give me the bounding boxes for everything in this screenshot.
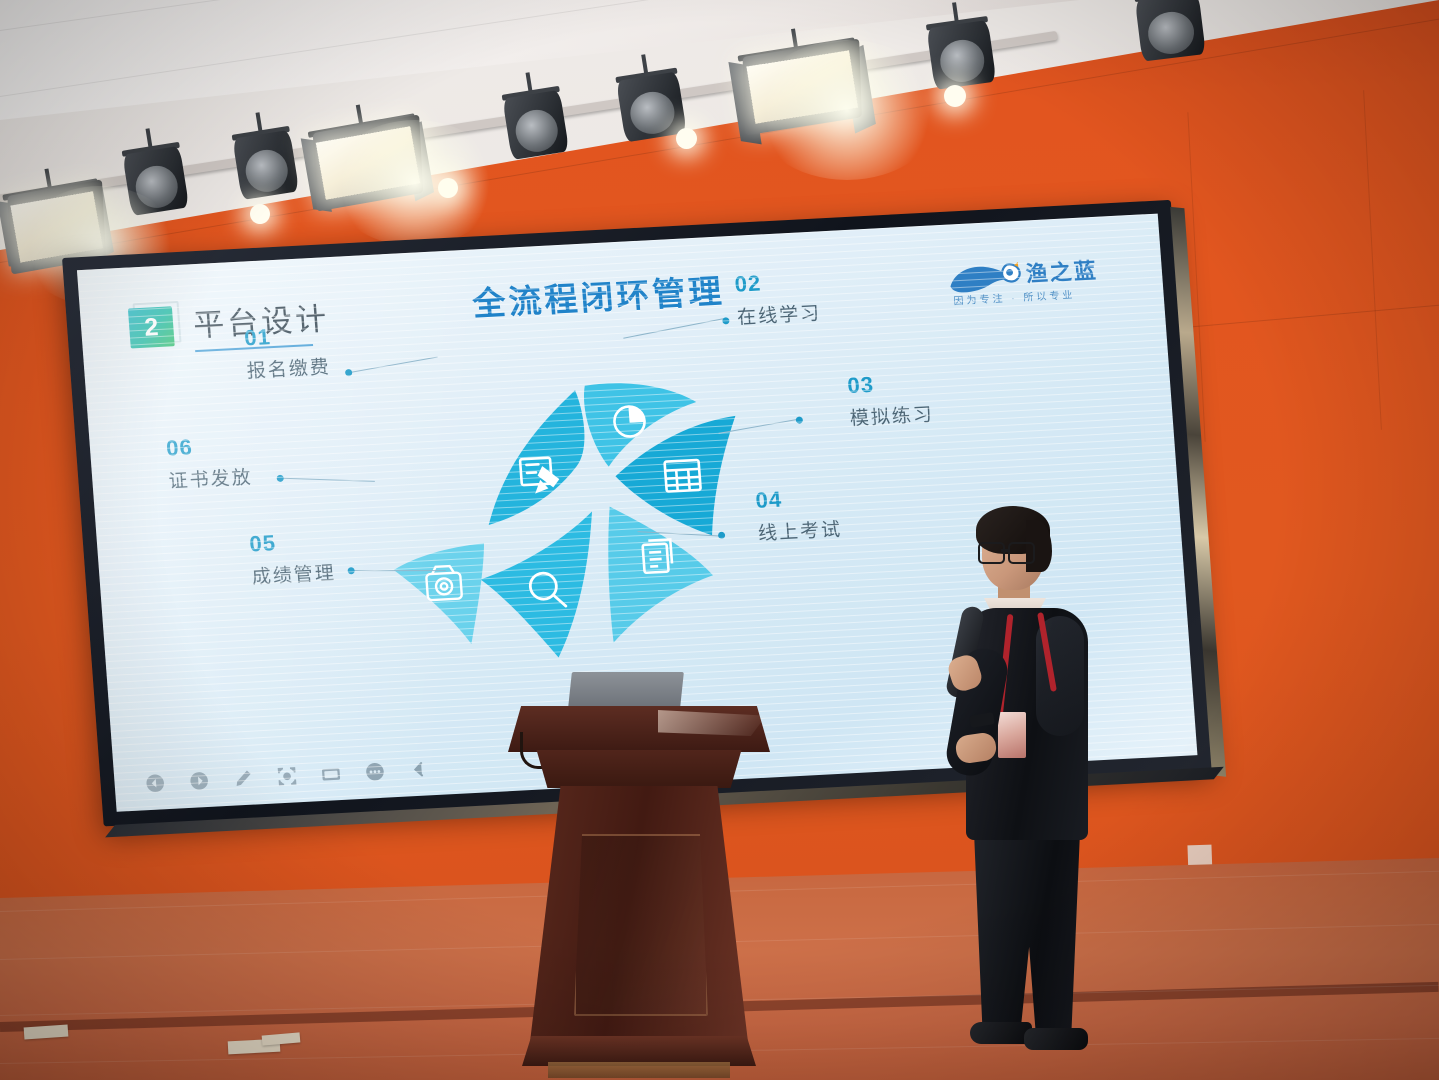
pinwheel-diagram [385, 351, 808, 691]
leader-dot-06 [276, 475, 284, 482]
ceiling-downlight [250, 204, 270, 224]
presenter [940, 498, 1140, 1058]
brand-name: 渔之蓝 [1024, 253, 1098, 289]
step-label-04: 04 线上考试 [755, 486, 843, 546]
step-label-02: 02 在线学习 [734, 269, 822, 329]
step-label-05: 05 成绩管理 [249, 529, 337, 589]
ceiling-downlight [676, 128, 697, 149]
laptop-screen [568, 672, 684, 708]
ellipsis-circle-icon[interactable] [364, 761, 387, 783]
step-text: 在线学习 [736, 298, 822, 329]
petal-05 [476, 512, 602, 662]
leader-line-02 [623, 318, 725, 339]
leader-line-06 [283, 478, 375, 482]
badge-square: 2 [128, 306, 175, 348]
step-text: 报名缴费 [246, 352, 332, 383]
petal-06 [392, 543, 491, 648]
step-label-03: 03 模拟练习 [847, 371, 935, 431]
step-text: 模拟练习 [849, 400, 935, 431]
presenter-legs [974, 832, 1080, 1030]
leader-dot-03 [796, 416, 804, 423]
brand-logo: 渔之蓝 因为专注 · 所以专业 [947, 252, 1119, 313]
leader-dot-05 [347, 567, 355, 574]
step-number: 01 [244, 323, 330, 349]
leader-line-05 [354, 570, 446, 571]
leader-dot-01 [345, 369, 353, 376]
section-number-badge: 2 [128, 306, 177, 350]
presenter-badge [998, 712, 1026, 758]
photo-scene: 2 平台设计 全流程闭环管理 [0, 0, 1439, 1080]
podium-neck [530, 750, 748, 788]
podium-foot [548, 1062, 730, 1078]
pinwheel-svg [385, 351, 808, 691]
step-number: 03 [847, 371, 933, 397]
ceiling-downlight [944, 85, 966, 107]
petal-01 [479, 390, 591, 525]
arrow-right-circle-icon[interactable] [188, 770, 211, 792]
step-number: 04 [755, 486, 841, 512]
focus-frame-icon[interactable] [276, 765, 299, 787]
step-number: 06 [165, 433, 251, 459]
pen-icon[interactable] [232, 768, 255, 790]
section-number: 2 [143, 315, 159, 341]
eyeglasses-icon [978, 542, 1036, 561]
step-number: 02 [734, 269, 820, 295]
podium [508, 706, 770, 1080]
leader-dot-02 [722, 317, 730, 324]
presenter-shoe [970, 1022, 1032, 1044]
presenter-toolbar[interactable] [144, 758, 430, 794]
arrow-left-circle-icon[interactable] [144, 772, 167, 794]
stage-light [1132, 0, 1208, 78]
step-label-01: 01 报名缴费 [244, 323, 332, 383]
light-glow [330, 120, 500, 246]
chevron-left-icon[interactable] [408, 758, 431, 780]
screen-icon[interactable] [320, 763, 343, 785]
step-text: 成绩管理 [251, 558, 337, 589]
light-glow [752, 40, 942, 180]
step-label-06: 06 证书发放 [165, 433, 253, 493]
podium-panel [574, 834, 708, 1016]
step-number: 05 [249, 529, 335, 555]
presenter-shoe [1024, 1028, 1088, 1050]
step-text: 证书发放 [168, 462, 254, 493]
slide-headline: 全流程闭环管理 [471, 264, 726, 325]
step-text: 线上考试 [757, 515, 843, 546]
